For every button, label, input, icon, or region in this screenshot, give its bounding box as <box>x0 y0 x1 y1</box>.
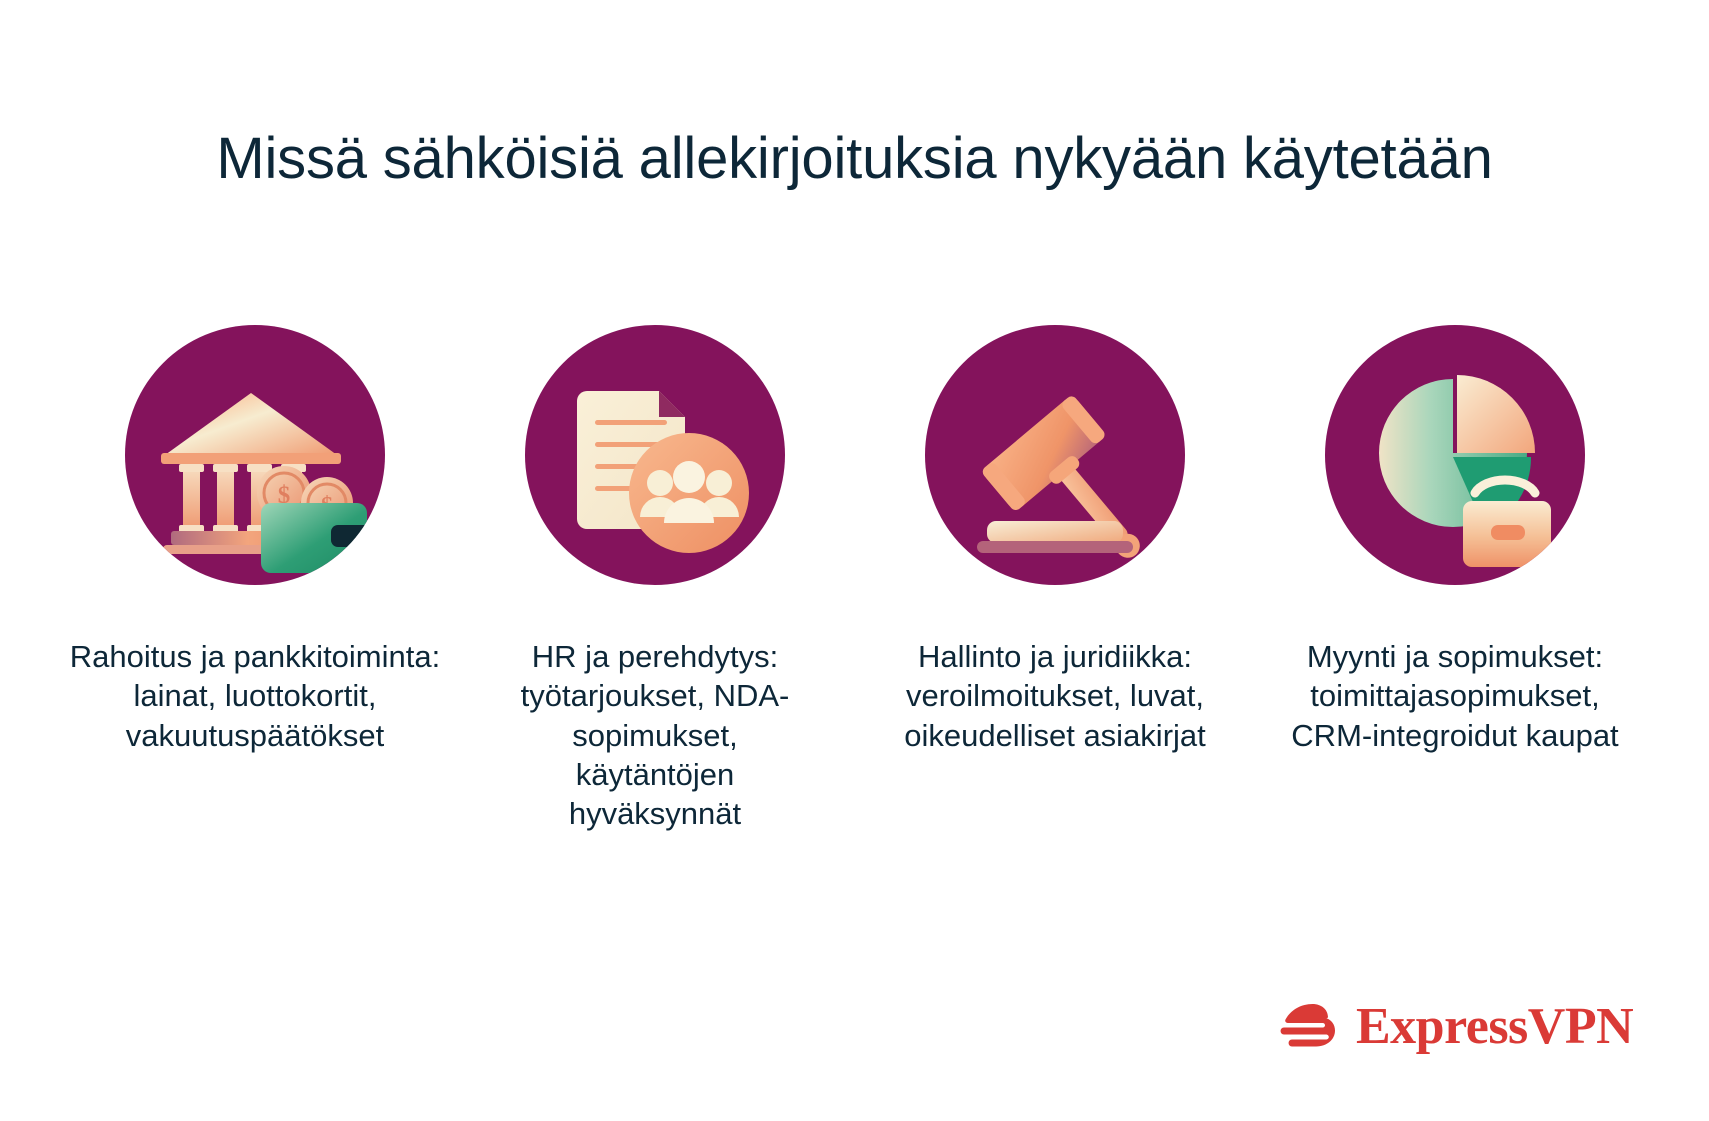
gavel-icon <box>925 325 1185 585</box>
pie-chart-briefcase-icon <box>1325 325 1585 585</box>
card-caption: HR ja perehdytys: työtarjoukset, NDA-sop… <box>490 637 820 834</box>
card-sales-contracts: Myynti ja sopimukset: toimittajasopimuks… <box>1255 325 1655 755</box>
document-people-icon <box>525 325 785 585</box>
card-caption: Myynti ja sopimukset: toimittajasopimuks… <box>1275 637 1635 755</box>
card-finance-banking: $ $ Rahoitus ja pankkitoiminta: lainat, … <box>55 325 455 755</box>
icon-circle-sales <box>1325 325 1585 585</box>
icon-circle-hr <box>525 325 785 585</box>
card-caption: Rahoitus ja pankkitoiminta: lainat, luot… <box>60 637 450 755</box>
infographic-page: Missä sähköisiä allekirjoituksia nykyään… <box>0 0 1709 1121</box>
page-title: Missä sähköisiä allekirjoituksia nykyään… <box>0 125 1709 192</box>
card-hr-onboarding: HR ja perehdytys: työtarjoukset, NDA-sop… <box>455 325 855 834</box>
expressvpn-wordmark: ExpressVPN <box>1356 1001 1633 1053</box>
bank-wallet-icon: $ $ <box>125 325 385 585</box>
expressvpn-logo: ExpressVPN <box>1278 995 1633 1059</box>
card-admin-legal: Hallinto ja juridiikka: veroilmoitukset,… <box>855 325 1255 755</box>
icon-circle-finance: $ $ <box>125 325 385 585</box>
card-caption: Hallinto ja juridiikka: veroilmoitukset,… <box>860 637 1250 755</box>
icon-circle-legal <box>925 325 1185 585</box>
expressvpn-logo-mark <box>1278 995 1342 1059</box>
card-row: $ $ Rahoitus ja pankkitoiminta: lainat, … <box>55 325 1655 834</box>
